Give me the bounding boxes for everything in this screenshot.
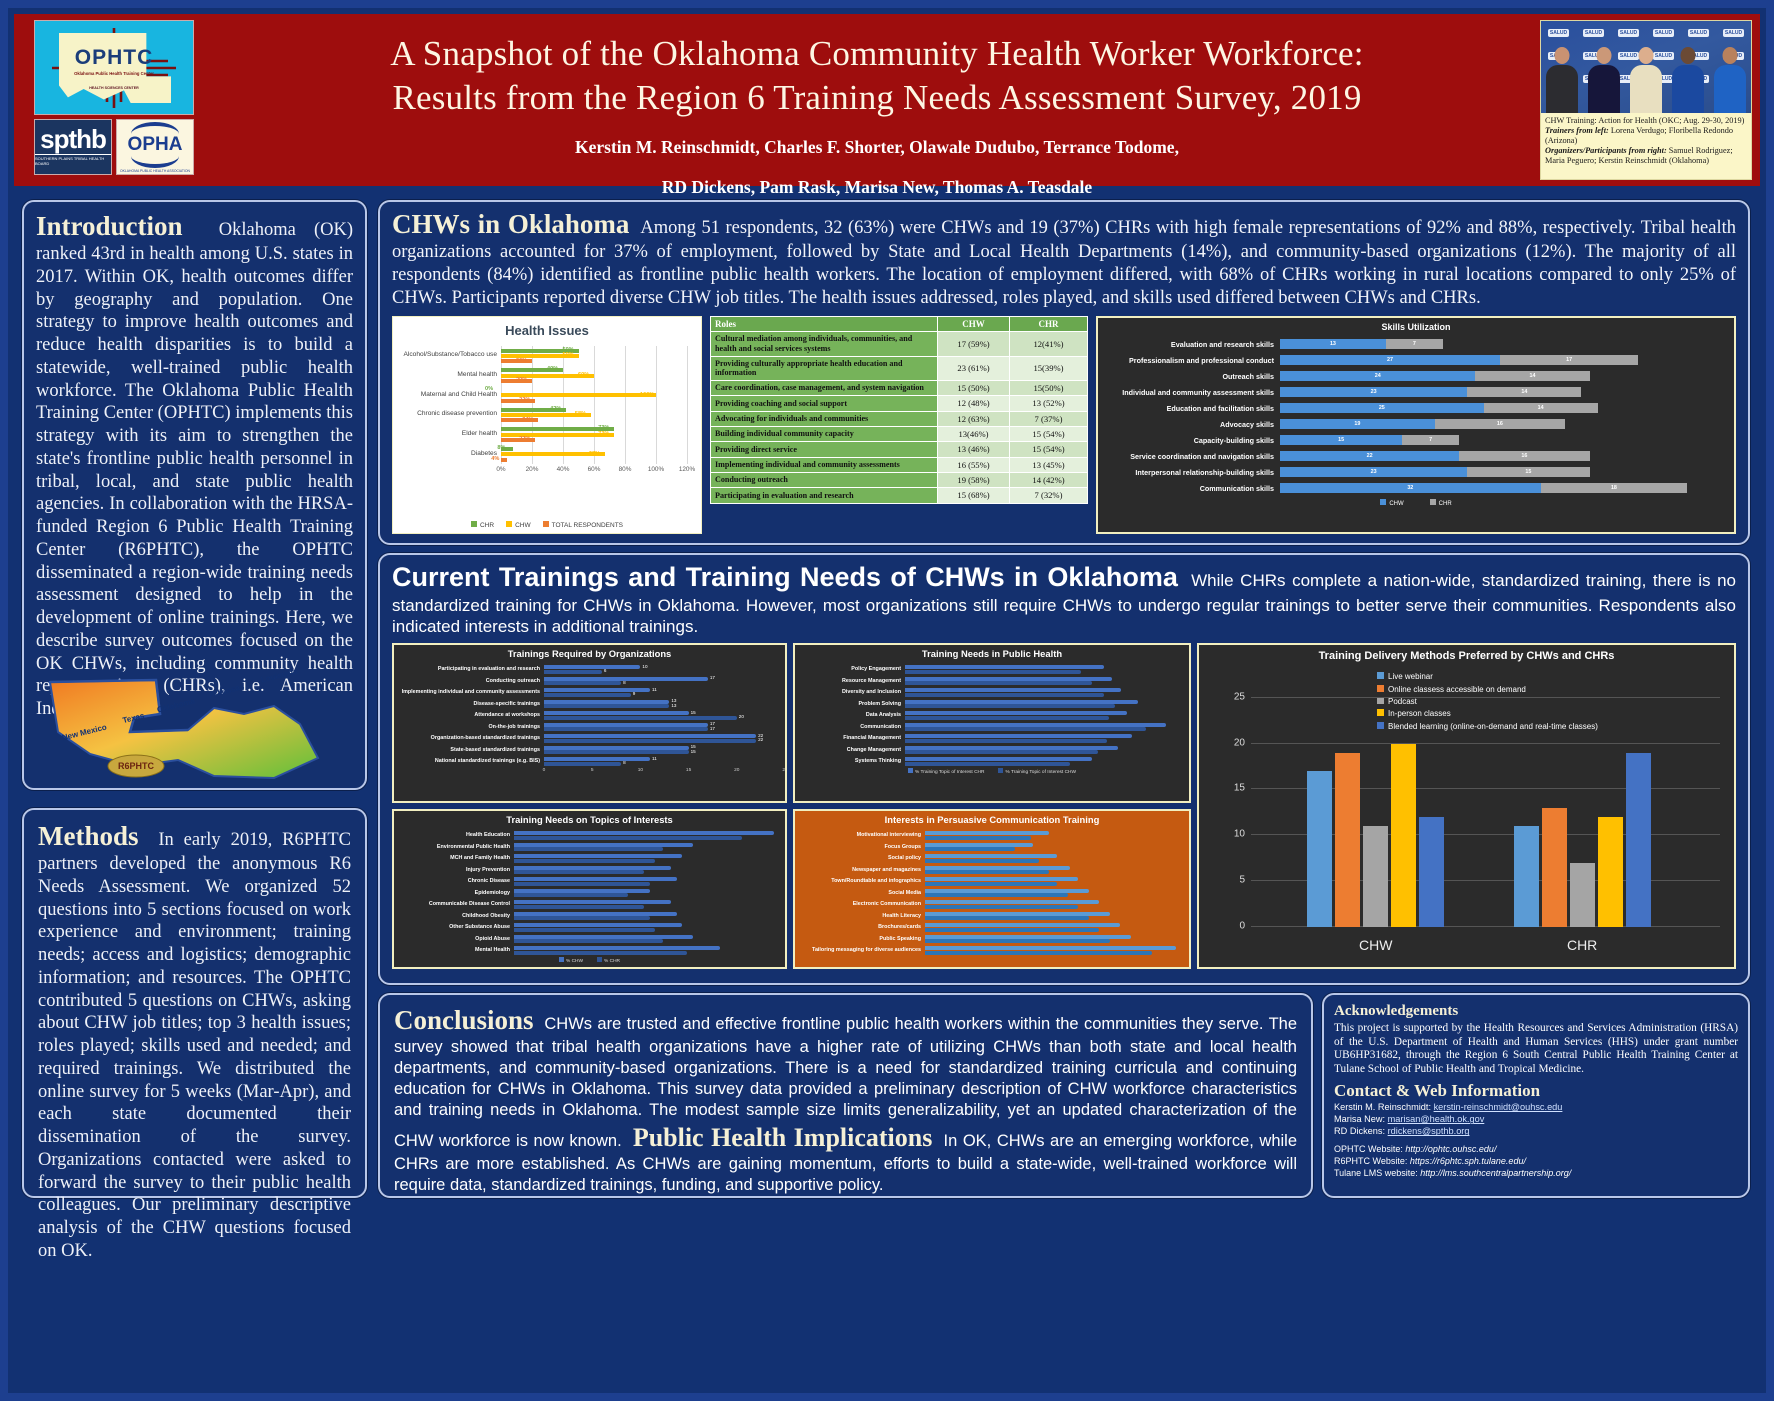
roles-table-body: Cultural mediation among individuals, co… (711, 332, 1088, 503)
roles-cell-chr: 15 (54%) (1010, 442, 1088, 457)
skills-row: Communication skills3218 (1104, 480, 1728, 496)
skills-row: Interpersonal relationship-building skil… (1104, 464, 1728, 480)
bar (905, 704, 1115, 708)
delivery-bar (1335, 753, 1360, 928)
skills-bar-segment: 18 (1541, 483, 1688, 493)
bar (905, 762, 1070, 766)
bar-value-label: 9 (633, 691, 636, 696)
bar-row: Electronic Communication (795, 898, 1189, 910)
roles-cell-chw: 17 (59%) (938, 332, 1010, 356)
delivery-methods-plot: 0510152025CHWCHR (1251, 679, 1720, 927)
bar-category-label: Resource Management (795, 678, 905, 684)
bar (925, 859, 1039, 863)
bar-category-label: Newspaper and magazines (795, 867, 925, 873)
delivery-y-tick: 15 (1234, 783, 1245, 794)
bar-track (925, 841, 1189, 853)
skills-bar-segment: 23 (1280, 467, 1467, 477)
bar-row: Injury Prevention (394, 864, 785, 876)
bar (514, 916, 650, 920)
bar-row: Implementing individual and community as… (394, 686, 785, 698)
roles-cell-chr: 15(50%) (1010, 381, 1088, 396)
bar (514, 870, 644, 874)
health-issues-value-label: 20% (516, 358, 527, 364)
bar (514, 854, 682, 858)
bar-x-tick: 25 (782, 768, 787, 773)
bar-row: Systems Thinking (795, 755, 1189, 767)
methods-heading: Methods (38, 821, 139, 851)
bar-track (905, 686, 1189, 698)
table-row: Implementing individual and community as… (711, 457, 1088, 472)
bar (514, 836, 742, 840)
table-row: Providing coaching and social support12 … (711, 396, 1088, 411)
skills-category-label: Communication skills (1104, 484, 1280, 493)
bar (905, 734, 1132, 738)
legend-item: % Training Topic of Interest CHW (998, 768, 1076, 775)
ophtc-logo-main: OPHTC (74, 46, 154, 70)
roles-cell-role: Participating in evaluation and research (711, 488, 938, 503)
poster-root: OPHTC Oklahoma Public Health Training Ce… (0, 0, 1774, 1401)
bar (514, 882, 650, 886)
bar (925, 866, 1070, 870)
photo-caption-trainers-label: Trainers from left: (1545, 126, 1609, 135)
health-issues-x-tick: 0% (496, 466, 505, 473)
web-label-3: Tulane LMS website: (1334, 1168, 1418, 1178)
salud-chip-label: SALUD (1723, 29, 1744, 37)
trainings-required-bars: Participating in evaluation and research… (394, 663, 785, 778)
conclusions-body: Conclusions CHWs are trusted and effecti… (380, 995, 1311, 1204)
bar (925, 900, 1099, 904)
bar-row: Participating in evaluation and research… (394, 663, 785, 675)
bar-x-axis: 0510152025 (544, 768, 785, 778)
roles-cell-chw: 23 (61%) (938, 356, 1010, 380)
health-issues-x-tick: 100% (648, 466, 664, 473)
roles-table: Roles CHW CHR Cultural mediation among i… (710, 316, 1088, 503)
delivery-bar-group: CHR (1514, 679, 1651, 927)
delivery-bar-group: CHW (1307, 679, 1444, 927)
bar (514, 847, 663, 851)
ophtc-logo-text: OPHTC Oklahoma Public Health Training Ce… (74, 46, 154, 90)
introduction-heading: Introduction (36, 211, 183, 241)
bar-row: MCH and Family Health (394, 852, 785, 864)
bar-row: State-based standardized trainings1515 (394, 744, 785, 756)
health-issues-value-label: 22% (519, 436, 530, 442)
bar-track (925, 864, 1189, 876)
bar-category-label: Data Analysis (795, 712, 905, 718)
introduction-panel: Introduction Oklahoma (OK) ranked 43rd i… (22, 200, 367, 790)
bar-row: Motivational interviewing (795, 829, 1189, 841)
bar (925, 905, 1078, 909)
legend-item: CHW (506, 521, 531, 529)
bar-track (925, 887, 1189, 899)
skills-bar-track: 2414 (1280, 371, 1728, 381)
health-issues-value-label: 20% (516, 377, 527, 383)
bar-category-label: Participating in evaluation and research (394, 666, 544, 672)
bar (925, 882, 1057, 886)
acknowledgements-heading: Acknowledgements (1334, 1003, 1738, 1020)
delivery-bar (1626, 753, 1651, 928)
contact-email-2[interactable]: marisan@health.ok.gov (1388, 1114, 1485, 1124)
delivery-y-tick: 0 (1239, 921, 1245, 932)
conclusions-panel: Conclusions CHWs are trusted and effecti… (378, 993, 1313, 1198)
health-issues-x-tick: 20% (526, 466, 539, 473)
bar-category-label: Organization-based standardized training… (394, 735, 544, 741)
opha-logo: OPHA OKLAHOMA PUBLIC HEALTH ASSOCIATION (116, 119, 194, 175)
header-logo-group: OPHTC Oklahoma Public Health Training Ce… (14, 14, 214, 186)
gridline (687, 346, 688, 464)
training-needs-public-health-chart: Training Needs in Public Health Policy E… (793, 643, 1191, 803)
skills-bar-track: 3218 (1280, 483, 1728, 493)
table-row: Care coordination, case management, and … (711, 381, 1088, 396)
roles-cell-chr: 15(39%) (1010, 356, 1088, 380)
skills-bar-track: 2717 (1280, 355, 1728, 365)
skills-bar-track: 2315 (1280, 467, 1728, 477)
contact-line-3: RD Dickens: rdickens@spthb.org (1334, 1125, 1738, 1137)
bar (925, 935, 1131, 939)
skills-row: Education and facilitation skills2514 (1104, 400, 1728, 416)
skills-bar-track: 2216 (1280, 451, 1728, 461)
bar-rows: Policy EngagementResource ManagementDive… (795, 663, 1189, 767)
bar-category-label: Epidemiology (394, 890, 514, 896)
skills-row: Individual and community assessment skil… (1104, 384, 1728, 400)
photo-caption-trainers: Trainers from left: Lorena Verdugo; Flor… (1545, 126, 1747, 146)
roles-cell-role: Providing direct service (711, 442, 938, 457)
table-row: Advocating for individuals and communiti… (711, 411, 1088, 426)
delivery-bar (1570, 863, 1595, 927)
health-issues-legend: CHRCHWTOTAL RESPONDENTS (393, 521, 701, 529)
legend-item: % Training Topic of Interest CHR (908, 768, 985, 775)
spthb-logo: spthb SOUTHERN PLAINS TRIBAL HEALTH BOAR… (34, 119, 112, 175)
bar-row: Other Substance Abuse (394, 921, 785, 933)
current-trainings-heading: Current Trainings and Training Needs of … (392, 562, 1178, 592)
bar (905, 665, 1104, 669)
roles-cell-chr: 7 (37%) (1010, 411, 1088, 426)
delivery-bar (1419, 817, 1444, 927)
web-label-1: OPHTC Website: (1334, 1144, 1403, 1154)
bar-category-label: Electronic Communication (795, 901, 925, 907)
chws-heading: CHWs in Oklahoma (392, 209, 629, 239)
skills-row: Professionalism and professional conduct… (1104, 352, 1728, 368)
bar-row: Financial Management (795, 732, 1189, 744)
health-issues-value-label: 73% (598, 431, 609, 437)
training-group-photo-people (1541, 47, 1751, 113)
legend-item: CHR (1430, 499, 1452, 507)
roles-cell-chw: 13 (46%) (938, 442, 1010, 457)
bar-value-label: 11 (652, 687, 657, 692)
gridline (563, 346, 564, 464)
bar-category-label: Other Substance Abuse (394, 924, 514, 930)
roles-cell-chw: 12 (48%) (938, 396, 1010, 411)
skills-row: Outreach skills2414 (1104, 368, 1728, 384)
methods-body: Methods In early 2019, R6PHTC partners d… (24, 810, 365, 1273)
bar-track (905, 709, 1189, 721)
skills-row: Evaluation and research skills137 (1104, 336, 1728, 352)
delivery-y-tick: 25 (1234, 691, 1245, 702)
roles-cell-chr: 13 (52%) (1010, 396, 1088, 411)
bar-track: 119 (544, 686, 785, 698)
bar-value-label: 17 (710, 726, 715, 731)
bar (544, 727, 708, 731)
skills-bar-track: 2314 (1280, 387, 1728, 397)
skills-utilization-bars: Evaluation and research skills137Profess… (1104, 336, 1728, 496)
chart-legend: % CHW% CHR (394, 957, 785, 964)
bar-row: Mental Health (394, 944, 785, 956)
bar-row: Data Analysis (795, 709, 1189, 721)
web-url-3[interactable]: http://lms.southcentralpartnership.org/ (1420, 1168, 1571, 1178)
skills-row: Service coordination and navigation skil… (1104, 448, 1728, 464)
chart-legend: % Training Topic of Interest CHR% Traini… (795, 768, 1189, 775)
bar-x-tick: 5 (591, 768, 594, 773)
health-issues-value-label: 60% (578, 372, 589, 378)
bar-track: 2222 (544, 732, 785, 744)
methods-panel: Methods In early 2019, R6PHTC partners d… (22, 808, 367, 1198)
web-url-1[interactable]: http://ophtc.ouhsc.edu/ (1405, 1144, 1496, 1154)
bar-rows: Health EducationEnvironmental Public Hea… (394, 829, 785, 956)
skills-bar-segment: 16 (1435, 419, 1565, 429)
table-row: Providing direct service13 (46%)15 (54%) (711, 442, 1088, 457)
header-title-block: A Snapshot of the Oklahoma Community Hea… (214, 14, 1540, 186)
bar-value-label: 6 (604, 668, 607, 673)
table-row: Building individual community capacity13… (711, 427, 1088, 442)
chws-paragraph: CHWs in Oklahoma Among 51 respondents, 3… (392, 208, 1736, 310)
skills-utilization-title: Skills Utilization (1104, 322, 1728, 332)
persuasive-comm-bars: Motivational interviewingFocus GroupsSoc… (795, 829, 1189, 956)
trainings-charts-grid: Trainings Required by Organizations Part… (392, 643, 1736, 973)
bar-category-label: Brochures/cards (795, 924, 925, 930)
bar (514, 889, 650, 893)
bar-category-label: Tailoring messaging for diverse audience… (795, 947, 925, 953)
bar-category-label: Motivational interviewing (795, 832, 925, 838)
bar (544, 704, 669, 708)
skills-category-label: Service coordination and navigation skil… (1104, 452, 1280, 461)
bar-track (514, 852, 785, 864)
bar (925, 847, 1015, 851)
bar-value-label: 11 (652, 756, 657, 761)
health-issues-value-label: 0% (485, 386, 493, 392)
web-line-3: Tulane LMS website: http://lms.southcent… (1334, 1167, 1738, 1179)
introduction-body: Introduction Oklahoma (OK) ranked 43rd i… (24, 202, 365, 729)
bar-track (925, 829, 1189, 841)
bar-track (514, 887, 785, 899)
web-line-1: OPHTC Website: http://ophtc.ouhsc.edu/ (1334, 1143, 1738, 1155)
bar-track: 1717 (544, 721, 785, 733)
health-issues-x-tick: 60% (588, 466, 601, 473)
bar-value-label: 8 (623, 760, 626, 765)
bar-track (905, 698, 1189, 710)
roles-cell-chw: 12 (63%) (938, 411, 1010, 426)
health-issues-title: Health Issues (393, 317, 701, 338)
delivery-y-tick: 5 (1239, 875, 1245, 886)
bar-track (514, 933, 785, 945)
bar-track: 178 (544, 675, 785, 687)
skills-category-label: Outreach skills (1104, 372, 1280, 381)
training-needs-ph-title: Training Needs in Public Health (795, 645, 1189, 659)
skills-utilization-chart: Skills Utilization Evaluation and resear… (1096, 316, 1736, 534)
bar-category-label: Policy Engagement (795, 666, 905, 672)
delivery-bar (1542, 808, 1567, 927)
bar-track: 118 (544, 755, 785, 767)
roles-table-container: Roles CHW CHR Cultural mediation among i… (710, 316, 1088, 534)
skills-bar-segment: 7 (1386, 339, 1443, 349)
bar-category-label: Diversity and Inclusion (795, 689, 905, 695)
bar-category-label: Health Literacy (795, 913, 925, 919)
bar-category-label: Change Management (795, 747, 905, 753)
current-trainings-panel: Current Trainings and Training Needs of … (378, 553, 1750, 985)
health-issues-plot: Alcohol/Substance/Tobacco use50%50%20%Me… (401, 346, 693, 486)
web-url-2[interactable]: https://r6phtc.sph.tulane.edu/ (1410, 1156, 1526, 1166)
partner-logo-row: spthb SOUTHERN PLAINS TRIBAL HEALTH BOAR… (34, 119, 194, 175)
bar-category-label: Environmental Public Health (394, 844, 514, 850)
trainings-required-title: Trainings Required by Organizations (394, 645, 785, 659)
poster-authors-line1: Kerstin M. Reinschmidt, Charles F. Short… (214, 134, 1540, 160)
health-issues-category-label: Chronic disease prevention (401, 410, 497, 417)
bar (905, 727, 1146, 731)
gridline (532, 346, 533, 464)
bar-row: Town/Roundtable and infographics (795, 875, 1189, 887)
acknowledgements-body: Acknowledgements This project is support… (1324, 995, 1748, 1187)
bar-rows: Motivational interviewingFocus GroupsSoc… (795, 829, 1189, 956)
training-photo-caption: CHW Training: Action for Health (OKC; Au… (1541, 113, 1751, 171)
bar-row: Health Education (394, 829, 785, 841)
bar-track (905, 721, 1189, 733)
bar-category-label: On-the-job trainings (394, 724, 544, 730)
bar (925, 843, 1033, 847)
bar (544, 665, 640, 669)
health-issues-x-tick: 80% (619, 466, 632, 473)
bar-value-label: 13 (671, 703, 676, 708)
health-issues-bars: Alcohol/Substance/Tobacco use50%50%20%Me… (501, 346, 687, 464)
skills-category-label: Evaluation and research skills (1104, 340, 1280, 349)
bar (514, 893, 628, 897)
current-trainings-body: Current Trainings and Training Needs of … (380, 555, 1748, 979)
bar (925, 912, 1110, 916)
health-issues-chart: Health Issues Alcohol/Substance/Tobacco … (392, 316, 702, 534)
bar-track (514, 910, 785, 922)
legend-item: CHR (471, 521, 494, 529)
bar-row: Resource Management (795, 675, 1189, 687)
bar-row: Childhood Obesity (394, 910, 785, 922)
bar (514, 877, 677, 881)
contact-line-1: Kerstin M. Reinschmidt: kerstin-reinschm… (1334, 1101, 1738, 1113)
bar (544, 757, 650, 761)
bar (905, 700, 1138, 704)
health-issues-value-label: 8% (497, 445, 505, 451)
roles-cell-role: Building individual community capacity (711, 427, 938, 442)
bar (925, 928, 1099, 932)
bar (514, 900, 671, 904)
skills-bar-segment: 24 (1280, 371, 1475, 381)
gridline (656, 346, 657, 464)
bar-track (925, 910, 1189, 922)
roles-cell-chw: 13(46%) (938, 427, 1010, 442)
bar-row: Problem Solving (795, 698, 1189, 710)
bar (544, 746, 689, 750)
skills-bar-track: 137 (1280, 339, 1728, 349)
bar-category-label: Financial Management (795, 735, 905, 741)
persuasive-comm-title: Interests in Persuasive Communication Tr… (795, 811, 1189, 825)
spthb-logo-word: spthb (40, 128, 106, 151)
contact-email-1[interactable]: kerstin-reinschmidt@ouhsc.edu (1434, 1102, 1563, 1112)
delivery-bar (1363, 826, 1388, 927)
bar-row: Change Management (795, 744, 1189, 756)
contact-name-3: RD Dickens: (1334, 1126, 1385, 1136)
health-issues-category-label: Maternal and Child Health (401, 391, 497, 398)
delivery-x-label: CHW (1307, 937, 1444, 953)
bar (544, 670, 602, 674)
bar (544, 716, 737, 720)
bar-row: Disease-specific trainings1313 (394, 698, 785, 710)
bar-track (925, 898, 1189, 910)
bar-row: Focus Groups (795, 841, 1189, 853)
bar-row: Brochures/cards (795, 921, 1189, 933)
persuasive-communication-chart: Interests in Persuasive Communication Tr… (793, 809, 1191, 969)
acknowledgements-panel: Acknowledgements This project is support… (1322, 993, 1750, 1198)
health-issues-category-label: Mental health (401, 371, 497, 378)
bar (514, 951, 687, 955)
bar (514, 928, 655, 932)
introduction-text: Oklahoma (OK) ranked 43rd in health amon… (36, 220, 353, 719)
chws-figures-row: Health Issues Alcohol/Substance/Tobacco … (392, 316, 1736, 534)
acknowledgements-text: This project is supported by the Health … (1334, 1022, 1738, 1076)
bar-row: On-the-job trainings1717 (394, 721, 785, 733)
photo-caption-title: CHW Training: Action for Health (OKC; Au… (1545, 116, 1747, 126)
bar-track (514, 944, 785, 956)
bar (514, 912, 677, 916)
bar-category-label: Problem Solving (795, 701, 905, 707)
delivery-bar (1391, 744, 1416, 928)
bar (514, 939, 663, 943)
poster-header: OPHTC Oklahoma Public Health Training Ce… (14, 14, 1760, 186)
bar-value-label: 20 (739, 714, 744, 719)
bar-track (905, 675, 1189, 687)
health-issues-value-label: 42% (550, 406, 561, 412)
bar-category-label: Communicable Disease Control (394, 901, 514, 907)
ophtc-logo-sub: Oklahoma Public Health Training Center (74, 71, 154, 76)
ophtc-logo-hsc: HEALTH SCIENCES CENTER (74, 86, 154, 90)
bar-track (925, 944, 1189, 956)
skills-bar-track: 157 (1280, 435, 1728, 445)
bar-track: 1515 (544, 744, 785, 756)
contact-email-3[interactable]: rdickens@spthb.org (1388, 1126, 1470, 1136)
conclusions-heading: Conclusions (394, 1005, 534, 1035)
roles-cell-role: Advocating for individuals and communiti… (711, 411, 938, 426)
roles-cell-role: Care coordination, case management, and … (711, 381, 938, 396)
skills-bar-segment: 19 (1280, 419, 1435, 429)
bar-rows: Participating in evaluation and research… (394, 663, 785, 767)
roles-table-header-row: Roles CHW CHR (711, 317, 1088, 332)
delivery-bar (1598, 817, 1623, 927)
conclusions-paragraph: Conclusions CHWs are trusted and effecti… (394, 1003, 1297, 1196)
skills-category-label: Capacity-building skills (1104, 436, 1280, 445)
bar (905, 711, 1127, 715)
roles-table-head: Roles CHW CHR (711, 317, 1088, 332)
opha-arc-top-icon (131, 122, 179, 134)
training-photo: SALUD SALUD SALUD SALUD SALUD SALUD SALU… (1541, 21, 1751, 113)
roles-cell-chw: 15 (50%) (938, 381, 1010, 396)
gridline (594, 346, 595, 464)
contact-heading: Contact & Web Information (1334, 1081, 1738, 1101)
bar-row: Health Literacy (795, 910, 1189, 922)
health-issues-value-label: 4% (491, 456, 499, 462)
bar-row: Social policy (795, 852, 1189, 864)
trainings-required-chart: Trainings Required by Organizations Part… (392, 643, 787, 803)
table-row: Cultural mediation among individuals, co… (711, 332, 1088, 356)
skills-bar-segment: 15 (1280, 435, 1402, 445)
delivery-y-tick: 10 (1234, 829, 1245, 840)
bar-track (905, 744, 1189, 756)
training-photo-card: SALUD SALUD SALUD SALUD SALUD SALUD SALU… (1540, 20, 1752, 180)
photo-caption-organizers-label: Organizers/Participants from right: (1545, 146, 1667, 155)
roles-cell-chw: 15 (68%) (938, 488, 1010, 503)
